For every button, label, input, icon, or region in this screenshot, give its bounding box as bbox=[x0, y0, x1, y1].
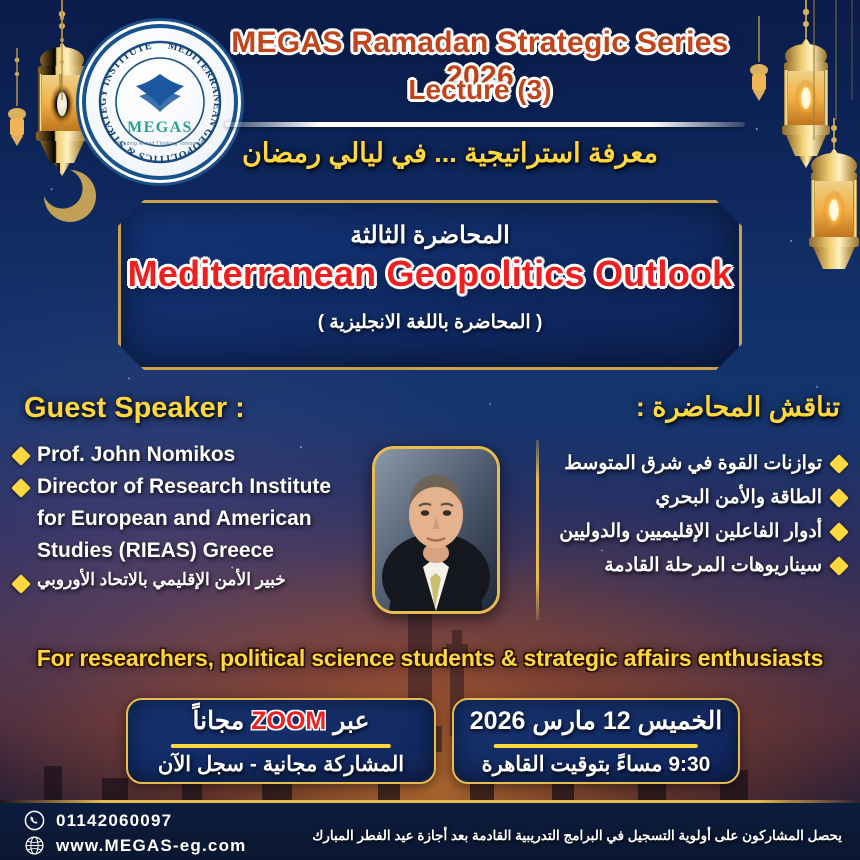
lecture-language-note: ( المحاضرة باللغة الانجليزية ) bbox=[121, 311, 739, 334]
topic-3: أدوار الفاعلين الإقليميين والدوليين bbox=[559, 520, 822, 543]
event-poster: MEDITERRANEAN GEOPOLITICS & STRATEGY INS… bbox=[0, 0, 860, 860]
list-item: توازنات القوة في شرق المتوسط bbox=[526, 452, 846, 475]
diamond-bullet-icon bbox=[11, 574, 31, 594]
arabic-tagline: معرفة استراتيجية ... في ليالي رمضان bbox=[140, 138, 760, 169]
logo-acronym: MEGAS bbox=[127, 119, 193, 136]
globe-icon bbox=[24, 835, 45, 856]
diamond-bullet-icon bbox=[11, 478, 31, 498]
list-item: Studies (RIEAS) Greece bbox=[14, 538, 364, 565]
speaker-name: Prof. John Nomikos bbox=[37, 442, 235, 469]
list-item: Director of Research Institute bbox=[14, 474, 364, 501]
event-date: الخميس 12 مارس 2026 bbox=[454, 706, 738, 736]
diamond-bullet-icon bbox=[829, 454, 849, 474]
list-item: سيناريوهات المرحلة القادمة bbox=[526, 554, 846, 577]
lantern-left-small bbox=[0, 48, 34, 188]
topics-list: توازنات القوة في شرق المتوسط الطاقة والأ… bbox=[526, 452, 846, 588]
lecture-number: Lecture (3) bbox=[200, 74, 760, 106]
list-item: خبير الأمن الإقليمي بالاتحاد الأوروبي bbox=[14, 570, 364, 591]
footer-note: يحصل المشاركون على أولوية التسجيل في الب… bbox=[312, 828, 842, 844]
platform-suffix: مجاناً bbox=[193, 707, 245, 735]
lecture-kicker-ar: المحاضرة الثالثة bbox=[121, 221, 739, 250]
lecture-title-card: المحاضرة الثالثة Mediterranean Geopoliti… bbox=[118, 200, 742, 370]
header-divider bbox=[225, 122, 745, 127]
lantern-right-lower bbox=[790, 118, 860, 328]
lantern-left-chain-beads bbox=[52, 0, 72, 110]
topic-2: الطاقة والأمن البحري bbox=[655, 486, 822, 509]
platform-line: عبر ZOOM مجاناً bbox=[128, 706, 434, 736]
registration-note: المشاركة مجانية - سجل الآن bbox=[128, 752, 434, 777]
speaker-role-line2: for European and American bbox=[14, 506, 312, 533]
speaker-role-line1: Director of Research Institute bbox=[37, 474, 331, 501]
list-item: Prof. John Nomikos bbox=[14, 442, 364, 469]
diamond-bullet-icon bbox=[829, 556, 849, 576]
list-item: for European and American bbox=[14, 506, 364, 533]
list-item: الطاقة والأمن البحري bbox=[526, 486, 846, 509]
diamond-bullet-icon bbox=[829, 488, 849, 508]
lantern-right-chains bbox=[800, 0, 860, 150]
event-time: 9:30 مساءً بتوقيت القاهرة bbox=[454, 752, 738, 777]
topic-1: توازنات القوة في شرق المتوسط bbox=[564, 452, 822, 475]
speaker-role-line3: Studies (RIEAS) Greece bbox=[14, 538, 274, 565]
datetime-info-box: الخميس 12 مارس 2026 9:30 مساءً بتوقيت ال… bbox=[452, 698, 740, 784]
footer-contacts: 01142060097 www.MEGAS-eg.com bbox=[24, 808, 246, 858]
speaker-role-ar: خبير الأمن الإقليمي بالاتحاد الأوروبي bbox=[37, 570, 286, 590]
guest-speaker-heading: Guest Speaker : bbox=[24, 392, 245, 425]
open-book-wings-icon bbox=[136, 74, 184, 112]
list-item: أدوار الفاعلين الإقليميين والدوليين bbox=[526, 520, 846, 543]
website-url: www.MEGAS-eg.com bbox=[56, 836, 246, 856]
platform-prefix: عبر bbox=[333, 707, 369, 735]
platform-zoom-label: ZOOM bbox=[251, 707, 326, 735]
guest-speaker-list: Prof. John Nomikos Director of Research … bbox=[14, 442, 364, 596]
box-divider bbox=[494, 744, 698, 748]
lecture-title-en: Mediterranean Geopolitics Outlook bbox=[121, 253, 739, 295]
topic-4: سيناريوهات المرحلة القادمة bbox=[604, 554, 822, 577]
diamond-bullet-icon bbox=[11, 446, 31, 466]
box-divider bbox=[171, 744, 391, 748]
contact-website-row[interactable]: www.MEGAS-eg.com bbox=[24, 833, 246, 858]
lantern-right-upper bbox=[762, 0, 854, 250]
phone-number: 01142060097 bbox=[56, 811, 172, 831]
diamond-bullet-icon bbox=[829, 522, 849, 542]
topics-heading: تناقش المحاضرة : bbox=[636, 392, 840, 423]
audience-line: For researchers, political science stude… bbox=[0, 645, 860, 672]
whatsapp-icon bbox=[24, 810, 45, 831]
platform-info-box: عبر ZOOM مجاناً المشاركة مجانية - سجل ال… bbox=[126, 698, 436, 784]
speaker-portrait bbox=[372, 446, 500, 614]
contact-phone-row[interactable]: 01142060097 bbox=[24, 808, 246, 833]
